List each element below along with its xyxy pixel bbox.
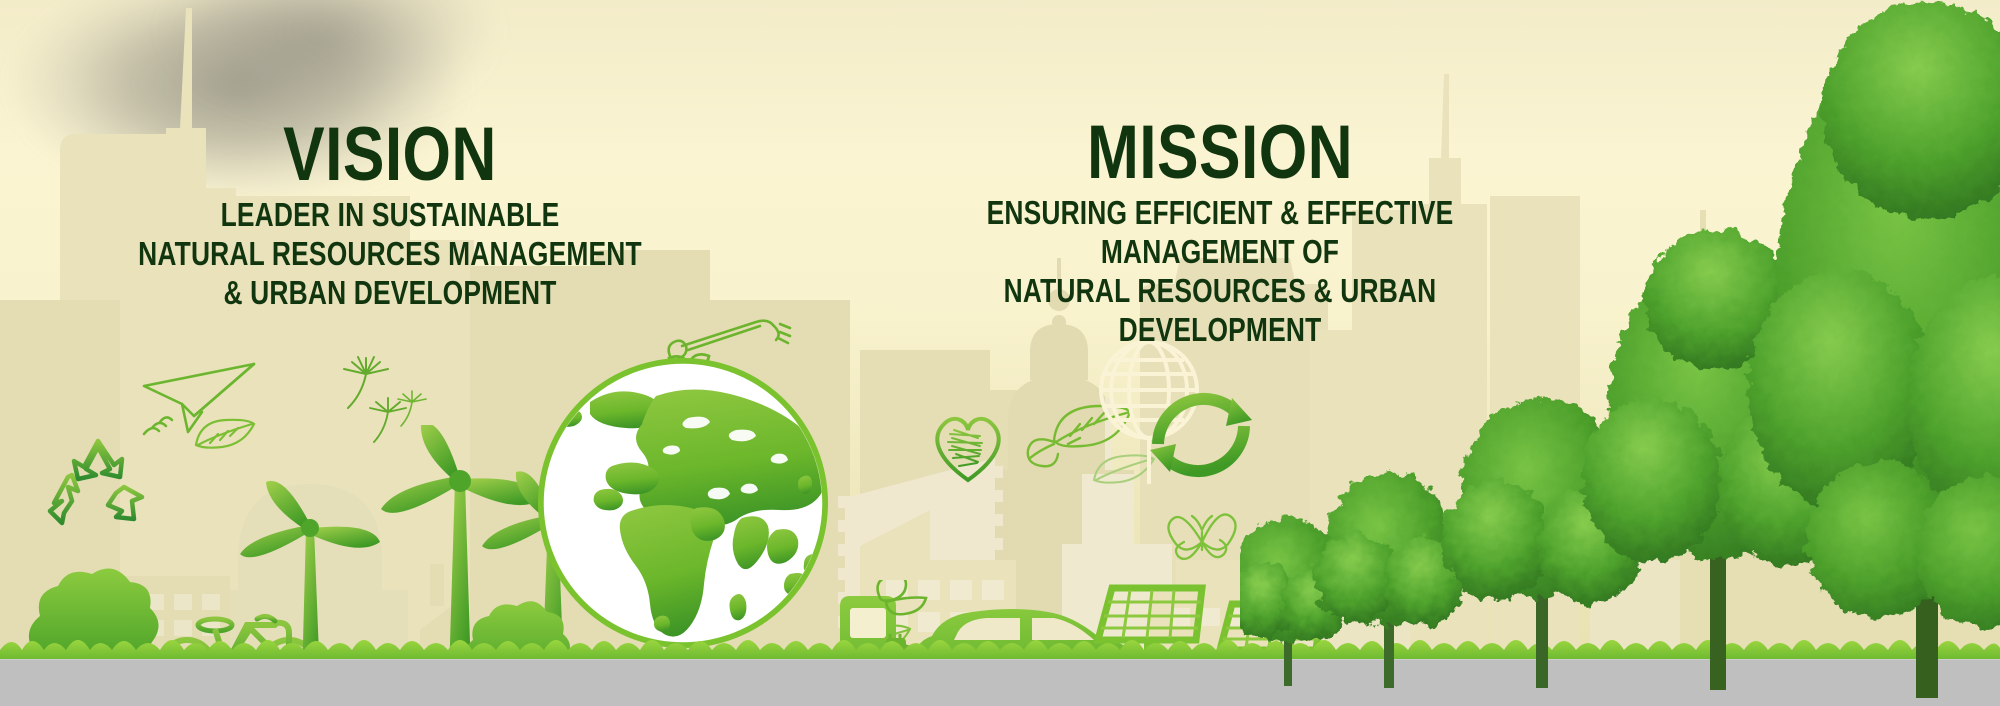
tree-icon: [1314, 472, 1464, 688]
vision-line-2: NATURAL RESOURCES MANAGEMENT & URBAN DEV…: [126, 235, 654, 313]
tree-icon: [1748, 2, 2000, 698]
tree-row: [1240, 0, 2000, 706]
mission-line-2: NATURAL RESOURCES & URBAN DEVELOPMENT: [940, 272, 1500, 350]
eco-city-banner: VISION LEADER IN SUSTAINABLE NATURAL RES…: [0, 0, 2000, 706]
vision-block: VISION LEADER IN SUSTAINABLE NATURAL RES…: [60, 120, 720, 313]
mission-line-1: ENSURING EFFICIENT & EFFECTIVE MANAGEMEN…: [940, 194, 1500, 272]
vision-title: VISION: [119, 120, 660, 190]
mission-title: MISSION: [933, 118, 1507, 188]
mission-block: MISSION ENSURING EFFICIENT & EFFECTIVE M…: [870, 118, 1570, 350]
vision-line-1: LEADER IN SUSTAINABLE: [126, 196, 654, 235]
